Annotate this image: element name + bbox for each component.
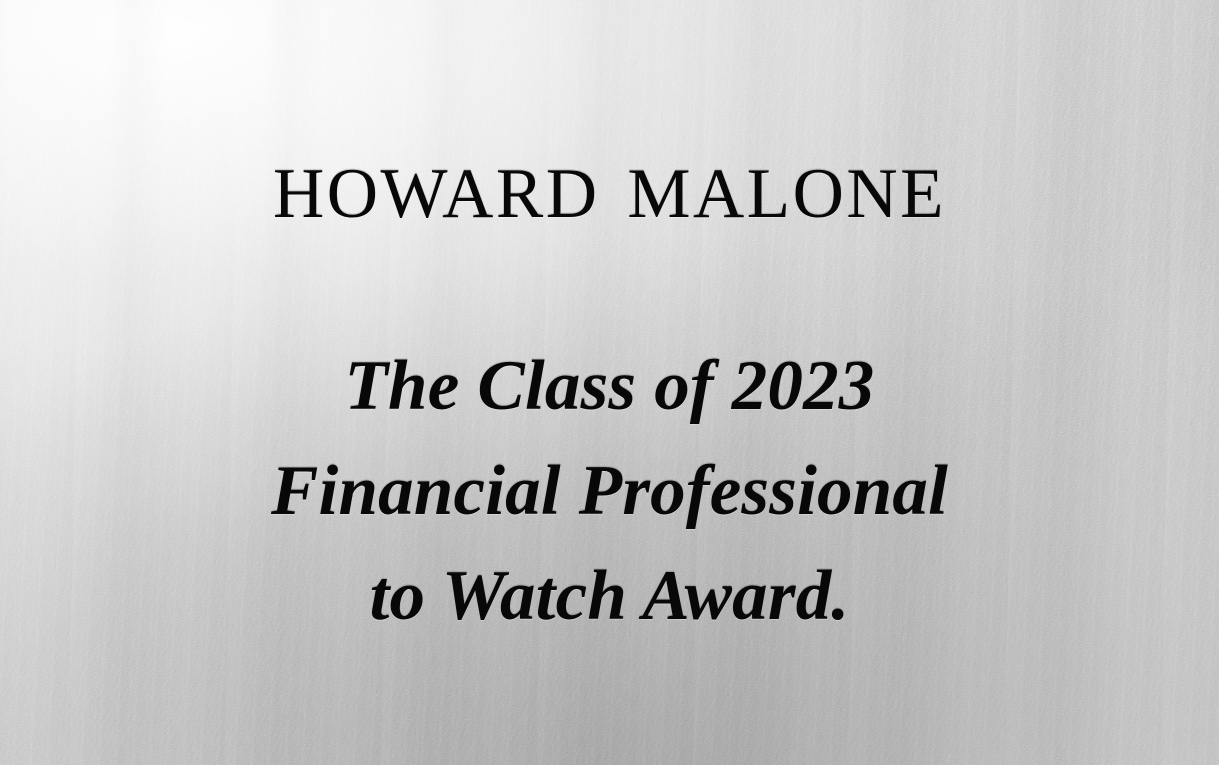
citation-line-3: to Watch Award.	[271, 544, 948, 649]
citation-line-2: Financial Professional	[271, 439, 948, 544]
award-citation: The Class of 2023 Financial Professional…	[271, 334, 948, 649]
award-plaque: Howard Malone The Class of 2023 Financia…	[0, 0, 1219, 765]
citation-line-1: The Class of 2023	[271, 334, 948, 439]
recipient-name: Howard Malone	[273, 131, 946, 236]
engraved-inscription: Howard Malone The Class of 2023 Financia…	[0, 0, 1219, 765]
